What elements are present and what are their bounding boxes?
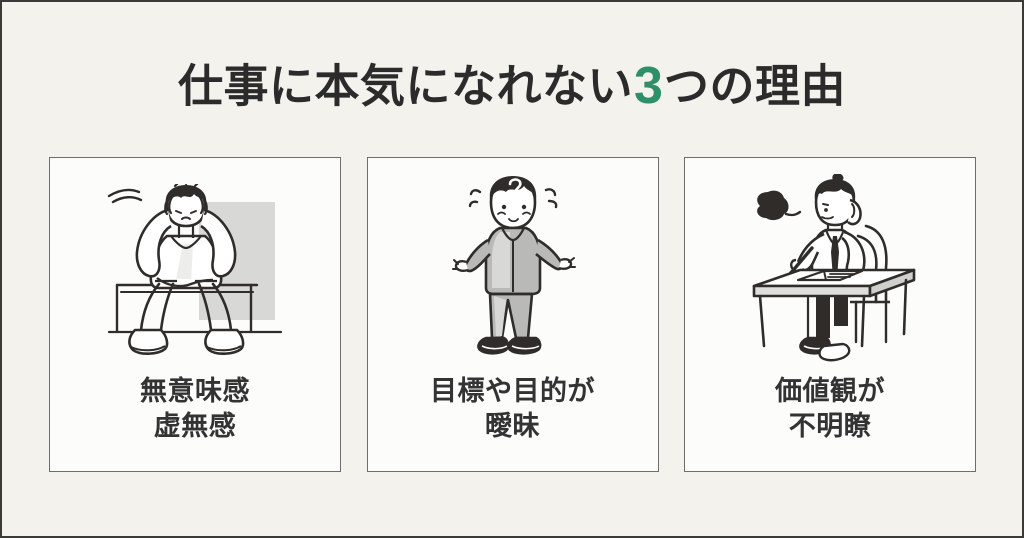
infographic-page: 仕事に本気になれない3つの理由 — [2, 2, 1022, 536]
page-title-accent-number: 3 — [633, 57, 664, 115]
reason-card-3-label-line2: 不明瞭 — [775, 409, 885, 444]
reason-card-list: 無意味感 虚無感 — [49, 157, 976, 474]
person-at-desk-thinking-illustration — [685, 164, 975, 364]
reason-card-3-label: 価値観が 不明瞭 — [775, 374, 885, 443]
page-title-part2: つの理由 — [664, 61, 846, 112]
reason-card-2: 目標や目的が 曖昧 — [367, 157, 659, 472]
person-head-in-hands-sitting-illustration — [50, 164, 340, 364]
reason-card-1: 無意味感 虚無感 — [49, 157, 341, 472]
reason-card-2-label: 目標や目的が 曖昧 — [430, 374, 595, 443]
page-title-part1: 仕事に本気になれない — [178, 61, 633, 112]
reason-card-1-label-line1: 無意味感 — [140, 376, 250, 406]
reason-card-2-label-line2: 曖昧 — [430, 409, 595, 444]
reason-card-1-label: 無意味感 虚無感 — [140, 374, 250, 443]
page-title: 仕事に本気になれない3つの理由 — [2, 60, 1022, 112]
reason-card-3-label-line1: 価値観が — [775, 376, 885, 406]
reason-card-1-label-line2: 虚無感 — [140, 409, 250, 444]
reason-card-2-label-line1: 目標や目的が — [430, 376, 595, 406]
reason-card-3: 価値観が 不明瞭 — [684, 157, 976, 472]
person-shrugging-confused-illustration — [368, 164, 658, 364]
